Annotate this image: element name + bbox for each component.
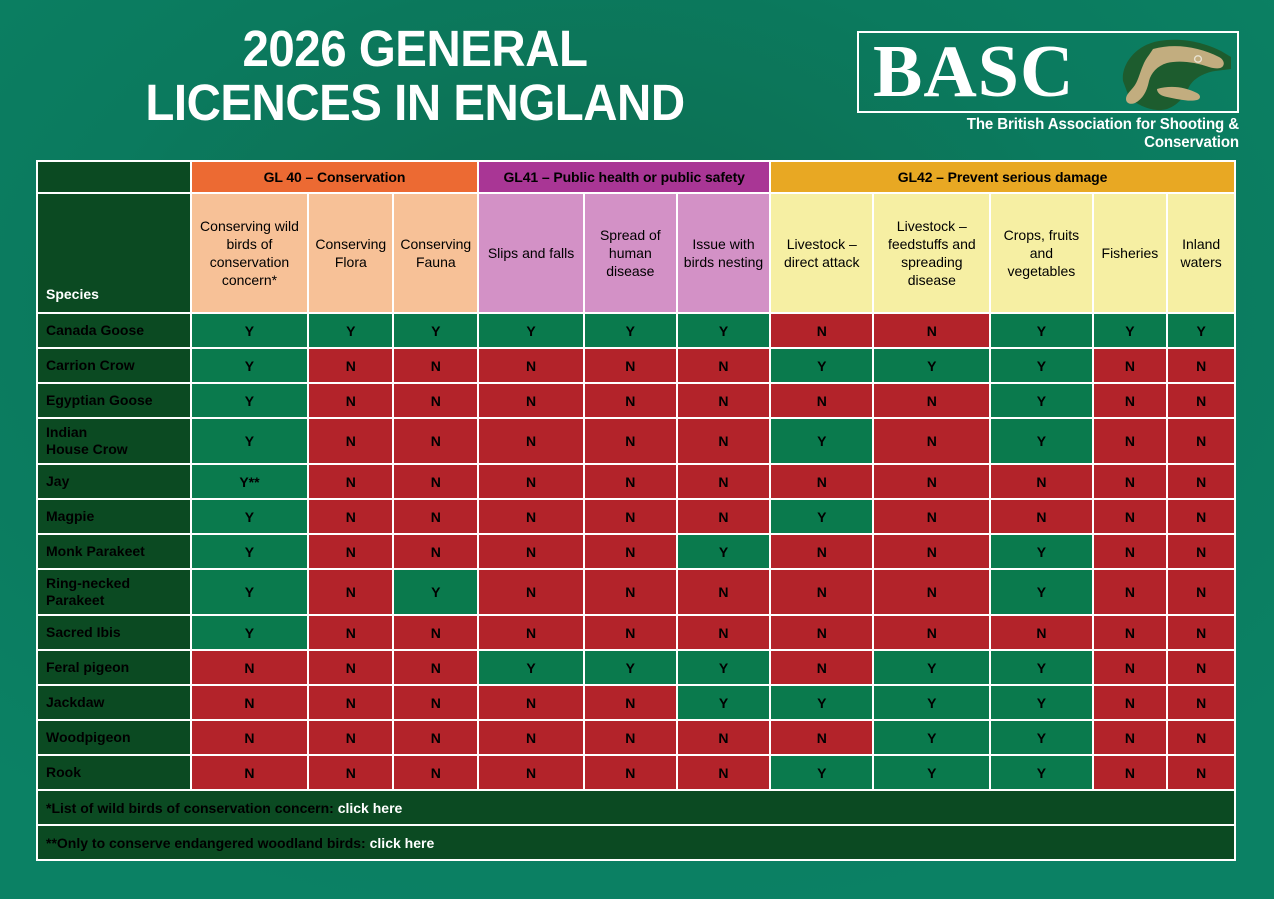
cell-yes: Y <box>991 419 1091 463</box>
column-header-livestock-feedstuffs: Livestock – feedstuffs and spreading dis… <box>874 194 989 312</box>
poster-header: 2026 GENERAL LICENCES IN ENGLAND BASC Th… <box>0 0 1274 158</box>
cell-yes: Y <box>479 651 582 684</box>
cell-no: N <box>394 535 477 568</box>
cell-yes: Y <box>874 349 989 382</box>
cell-yes: Y <box>771 686 872 719</box>
cell-no: N <box>192 651 308 684</box>
cell-yes: Y <box>585 314 676 347</box>
cell-no: N <box>678 465 769 498</box>
cell-no: N <box>479 535 582 568</box>
column-header-slips-and-falls: Slips and falls <box>479 194 582 312</box>
cell-no: N <box>585 570 676 614</box>
cell-no: N <box>394 686 477 719</box>
cell-no: N <box>1168 500 1234 533</box>
species-name-cell: Egyptian Goose <box>38 384 190 417</box>
cell-yes: Y <box>874 686 989 719</box>
cell-no: N <box>309 651 392 684</box>
footnote-row: *List of wild birds of conservation conc… <box>38 791 1234 824</box>
cell-no: N <box>678 419 769 463</box>
cell-no: N <box>585 686 676 719</box>
table-row: Feral pigeonNNNYYYNYYNN <box>38 651 1234 684</box>
cell-no: N <box>874 535 989 568</box>
column-header-conserving-wild-birds: Conserving wild birds of conservation co… <box>192 194 308 312</box>
cell-no: N <box>479 721 582 754</box>
column-header-livestock-direct-attack: Livestock – direct attack <box>771 194 872 312</box>
cell-no: N <box>874 465 989 498</box>
cell-no: N <box>479 570 582 614</box>
cell-no: N <box>394 721 477 754</box>
cell-no: N <box>771 384 872 417</box>
cell-no: N <box>1094 465 1167 498</box>
footnote-cell: *List of wild birds of conservation conc… <box>38 791 1234 824</box>
cell-yes: Y <box>585 651 676 684</box>
cell-yes: Y <box>874 721 989 754</box>
cell-no: N <box>479 616 582 649</box>
cell-yes: Y <box>991 535 1091 568</box>
table-row: Egyptian GooseYNNNNNNNYNN <box>38 384 1234 417</box>
cell-no: N <box>874 500 989 533</box>
cell-yes: Y <box>991 384 1091 417</box>
cell-no: N <box>874 384 989 417</box>
cell-no: N <box>394 384 477 417</box>
cell-yes: Y <box>678 686 769 719</box>
cell-no: N <box>394 616 477 649</box>
cell-no: N <box>771 314 872 347</box>
column-header-inland-waters: Inland waters <box>1168 194 1234 312</box>
cell-no: N <box>309 721 392 754</box>
cell-no: N <box>479 349 582 382</box>
cell-yes: Y <box>678 651 769 684</box>
cell-yes: Y <box>991 721 1091 754</box>
column-header-crops-fruits-vegetables: Crops, fruits and vegetables <box>991 194 1091 312</box>
table-row: MagpieYNNNNNYNNNN <box>38 500 1234 533</box>
cell-no: N <box>394 419 477 463</box>
cell-yes: Y <box>771 500 872 533</box>
logo-wordmark: BASC <box>873 31 1074 113</box>
cell-no: N <box>678 721 769 754</box>
logo-box: BASC <box>857 31 1239 113</box>
cell-no: N <box>1168 721 1234 754</box>
cell-yes: Y <box>771 349 872 382</box>
cell-no: N <box>479 686 582 719</box>
cell-yes: Y <box>874 756 989 789</box>
cell-yes: Y <box>991 349 1091 382</box>
cell-no: N <box>479 756 582 789</box>
cell-no: N <box>394 465 477 498</box>
group-header-gl42: GL42 – Prevent serious damage <box>771 162 1234 192</box>
cell-no: N <box>394 756 477 789</box>
cell-no: N <box>678 756 769 789</box>
table-row: Carrion CrowYNNNNNYYYNN <box>38 349 1234 382</box>
cell-no: N <box>192 721 308 754</box>
cell-no: N <box>309 616 392 649</box>
species-name-cell: Ring-neckedParakeet <box>38 570 190 614</box>
species-name-cell: Monk Parakeet <box>38 535 190 568</box>
table-body: Canada GooseYYYYYYNNYYYCarrion CrowYNNNN… <box>38 314 1234 789</box>
footnote-link[interactable]: click here <box>370 835 435 851</box>
page-title: 2026 GENERAL LICENCES IN ENGLAND <box>29 22 801 130</box>
cell-no: N <box>1168 384 1234 417</box>
column-header-fisheries: Fisheries <box>1094 194 1167 312</box>
cell-no: N <box>309 500 392 533</box>
footnote-text: **Only to conserve endangered woodland b… <box>46 835 370 851</box>
cell-yes: Y <box>991 651 1091 684</box>
column-header-conserving-fauna: Conserving Fauna <box>394 194 477 312</box>
cell-yes: Y <box>479 314 582 347</box>
cell-no: N <box>771 465 872 498</box>
table-row: Ring-neckedParakeetYNYNNNNNYNN <box>38 570 1234 614</box>
cell-no: N <box>585 419 676 463</box>
cell-no: N <box>874 570 989 614</box>
cell-no: N <box>678 570 769 614</box>
cell-no: N <box>394 651 477 684</box>
species-name-cell: IndianHouse Crow <box>38 419 190 463</box>
cell-yes: Y <box>192 500 308 533</box>
species-name-cell: Jay <box>38 465 190 498</box>
cell-yes: Y <box>192 570 308 614</box>
cell-yes: Y <box>394 314 477 347</box>
cell-no: N <box>309 756 392 789</box>
cell-no: N <box>874 314 989 347</box>
cell-no: N <box>874 419 989 463</box>
cell-no: N <box>309 686 392 719</box>
cell-yes: Y <box>192 616 308 649</box>
cell-yes: Y <box>192 349 308 382</box>
table-footnotes: *List of wild birds of conservation conc… <box>38 791 1234 859</box>
cell-no: N <box>771 721 872 754</box>
cell-yes: Y** <box>192 465 308 498</box>
footnote-link[interactable]: click here <box>338 800 403 816</box>
cell-no: N <box>585 465 676 498</box>
cell-no: N <box>771 616 872 649</box>
cell-yes: Y <box>192 314 308 347</box>
cell-yes: Y <box>874 651 989 684</box>
basc-logo: BASC The British Association for Shootin… <box>857 31 1239 152</box>
table-row: Canada GooseYYYYYYNNYYY <box>38 314 1234 347</box>
species-name-cell: Jackdaw <box>38 686 190 719</box>
table-row: JackdawNNNNNYYYYNN <box>38 686 1234 719</box>
cell-no: N <box>1094 651 1167 684</box>
cell-no: N <box>1168 570 1234 614</box>
cell-no: N <box>1168 419 1234 463</box>
cell-no: N <box>1094 756 1167 789</box>
cell-no: N <box>771 651 872 684</box>
cell-no: N <box>1094 616 1167 649</box>
cell-no: N <box>1168 465 1234 498</box>
cell-no: N <box>991 616 1091 649</box>
cell-no: N <box>991 465 1091 498</box>
species-name-cell: Woodpigeon <box>38 721 190 754</box>
cell-no: N <box>309 384 392 417</box>
cell-no: N <box>1168 616 1234 649</box>
cell-no: N <box>1094 500 1167 533</box>
cell-no: N <box>678 384 769 417</box>
general-licences-table: GL 40 – Conservation GL41 – Public healt… <box>36 160 1236 861</box>
species-name-cell: Canada Goose <box>38 314 190 347</box>
group-header-row: GL 40 – Conservation GL41 – Public healt… <box>38 162 1234 192</box>
cell-no: N <box>1094 419 1167 463</box>
cell-yes: Y <box>394 570 477 614</box>
duck-head-icon <box>1097 35 1233 113</box>
cell-yes: Y <box>991 314 1091 347</box>
column-header-row: Species Conserving wild birds of conserv… <box>38 194 1234 312</box>
cell-no: N <box>479 384 582 417</box>
cell-no: N <box>585 349 676 382</box>
group-header-gl41: GL41 – Public health or public safety <box>479 162 769 192</box>
cell-no: N <box>309 535 392 568</box>
cell-no: N <box>394 500 477 533</box>
cell-no: N <box>585 535 676 568</box>
cell-no: N <box>1168 651 1234 684</box>
cell-yes: Y <box>678 314 769 347</box>
cell-no: N <box>1094 384 1167 417</box>
cell-yes: Y <box>771 419 872 463</box>
cell-yes: Y <box>678 535 769 568</box>
cell-no: N <box>479 465 582 498</box>
cell-no: N <box>1168 535 1234 568</box>
cell-no: N <box>309 419 392 463</box>
species-name-cell: Rook <box>38 756 190 789</box>
column-header-conserving-flora: Conserving Flora <box>309 194 392 312</box>
group-header-gl40: GL 40 – Conservation <box>192 162 478 192</box>
cell-yes: Y <box>192 419 308 463</box>
cell-yes: Y <box>771 756 872 789</box>
cell-no: N <box>1094 535 1167 568</box>
cell-no: N <box>991 500 1091 533</box>
table-row: WoodpigeonNNNNNNNYYNN <box>38 721 1234 754</box>
cell-no: N <box>771 570 872 614</box>
logo-strapline: The British Association for Shooting & C… <box>868 116 1239 152</box>
table-row: Sacred IbisYNNNNNNNNNN <box>38 616 1234 649</box>
footnote-cell: **Only to conserve endangered woodland b… <box>38 826 1234 859</box>
cell-no: N <box>394 349 477 382</box>
cell-no: N <box>479 419 582 463</box>
cell-no: N <box>1094 721 1167 754</box>
cell-no: N <box>309 349 392 382</box>
cell-no: N <box>1094 349 1167 382</box>
cell-yes: Y <box>309 314 392 347</box>
cell-no: N <box>192 756 308 789</box>
cell-no: N <box>874 616 989 649</box>
species-name-cell: Magpie <box>38 500 190 533</box>
table-row: Monk ParakeetYNNNNYNNYNN <box>38 535 1234 568</box>
cell-no: N <box>309 570 392 614</box>
column-header-species: Species <box>38 194 190 312</box>
cell-no: N <box>678 500 769 533</box>
table-row: JayY**NNNNNNNNNN <box>38 465 1234 498</box>
cell-yes: Y <box>991 756 1091 789</box>
cell-no: N <box>1094 570 1167 614</box>
table-row: RookNNNNNNYYYNN <box>38 756 1234 789</box>
cell-yes: Y <box>991 570 1091 614</box>
cell-no: N <box>585 384 676 417</box>
general-licences-table-wrap: GL 40 – Conservation GL41 – Public healt… <box>36 160 1236 861</box>
cell-no: N <box>309 465 392 498</box>
species-name-cell: Feral pigeon <box>38 651 190 684</box>
column-header-issue-with-birds-nesting: Issue with birds nesting <box>678 194 769 312</box>
cell-no: N <box>479 500 582 533</box>
table-row: IndianHouse CrowYNNNNNYNYNN <box>38 419 1234 463</box>
group-header-blank <box>38 162 190 192</box>
cell-no: N <box>192 686 308 719</box>
cell-no: N <box>1168 686 1234 719</box>
species-name-cell: Carrion Crow <box>38 349 190 382</box>
column-header-spread-of-human-disease: Spread of human disease <box>585 194 676 312</box>
cell-yes: Y <box>192 535 308 568</box>
species-name-cell: Sacred Ibis <box>38 616 190 649</box>
cell-no: N <box>585 616 676 649</box>
cell-no: N <box>678 349 769 382</box>
footnote-row: **Only to conserve endangered woodland b… <box>38 826 1234 859</box>
cell-no: N <box>771 535 872 568</box>
cell-no: N <box>585 756 676 789</box>
cell-yes: Y <box>1168 314 1234 347</box>
cell-yes: Y <box>1094 314 1167 347</box>
cell-no: N <box>1168 756 1234 789</box>
cell-yes: Y <box>991 686 1091 719</box>
cell-no: N <box>585 721 676 754</box>
cell-yes: Y <box>192 384 308 417</box>
cell-no: N <box>585 500 676 533</box>
cell-no: N <box>678 616 769 649</box>
footnote-text: *List of wild birds of conservation conc… <box>46 800 338 816</box>
cell-no: N <box>1168 349 1234 382</box>
cell-no: N <box>1094 686 1167 719</box>
